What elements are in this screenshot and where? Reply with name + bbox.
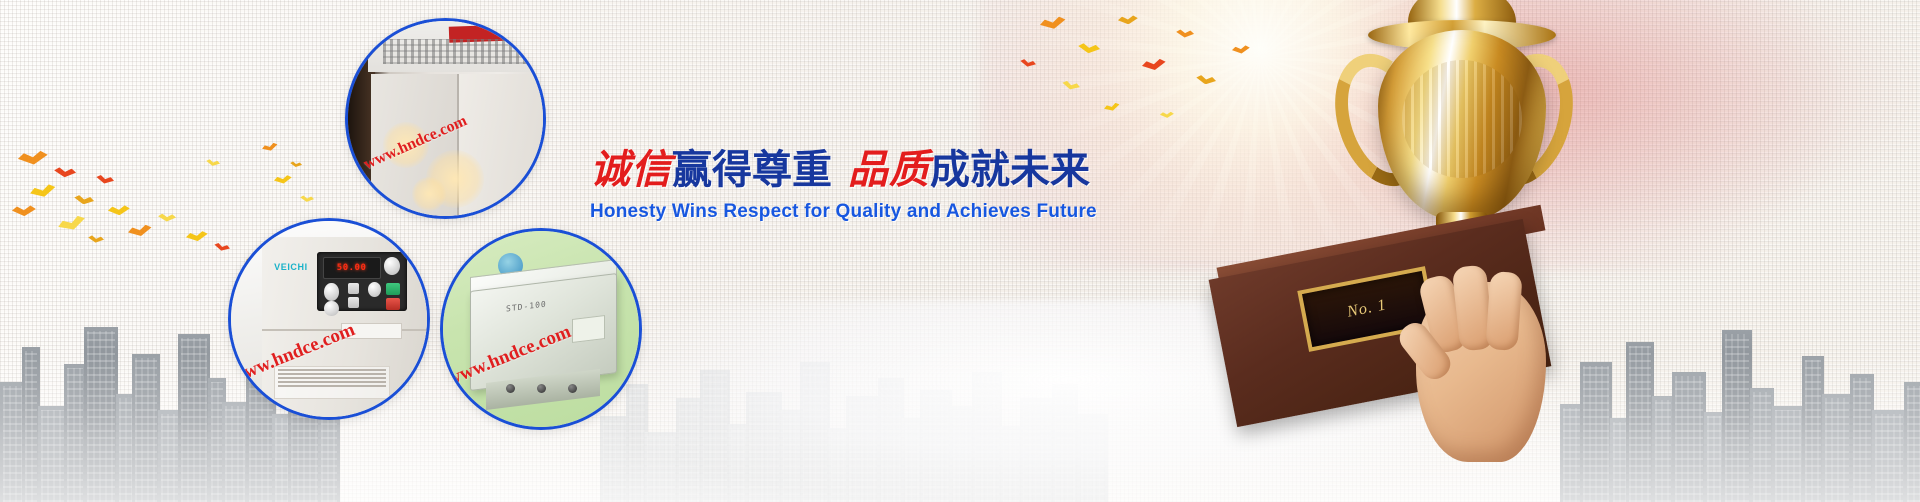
slogan-chinese: 诚信赢得尊重品质成就未来 [590, 150, 1060, 191]
inverter-jog-knob[interactable] [384, 257, 400, 275]
product-circle-inverter[interactable]: VEICHI 50.00 www.hndce.com [228, 218, 430, 420]
inverter-menu-knob[interactable] [324, 283, 338, 301]
cabinet-vent-grille [383, 39, 539, 64]
inverter-spec-sticker [341, 323, 402, 339]
inverter-up-button[interactable] [348, 283, 359, 294]
product-circle-device[interactable]: STD-100 www.hndce.com [440, 228, 642, 430]
bird-icon [1160, 112, 1174, 119]
bird-icon [12, 205, 37, 217]
inverter-display-value: 50.00 [337, 263, 367, 273]
device-nameplate [572, 315, 605, 343]
inverter-stop-knob[interactable] [368, 282, 382, 297]
inverter-lcd-display: 50.00 [323, 257, 381, 279]
slogan-cn-part2-blue: 成就未来 [930, 147, 1090, 193]
trophy-plaque-text: No. 1 [1346, 296, 1388, 321]
inverter-brand-label: VEICHI [274, 262, 308, 272]
trophy-bowl [1378, 30, 1546, 220]
slogan-block: 诚信赢得尊重品质成就未来 Honesty Wins Respect for Qu… [590, 150, 1060, 223]
inverter-run-button[interactable] [386, 283, 400, 295]
inverter-down-button[interactable] [348, 297, 359, 308]
inverter-shift-knob[interactable] [324, 301, 338, 316]
device-terminal-2 [537, 384, 546, 393]
inverter-keypad-panel: 50.00 [317, 252, 407, 311]
inverter-warning-sticker [274, 366, 390, 399]
slogan-cn-part1-blue: 赢得尊重 [672, 147, 832, 193]
bird-icon [158, 213, 176, 222]
trophy-group: No. 1 [1230, 0, 1700, 460]
product-circle-cabinet[interactable]: www.hndce.com [345, 18, 546, 219]
slogan-cn-part1-red: 诚信 [590, 147, 672, 193]
device-terminal-1 [506, 384, 515, 393]
inverter-stop-button[interactable] [386, 298, 400, 310]
slogan-cn-part2-red: 品质 [848, 147, 930, 193]
promo-banner: www.hndce.com VEICHI 50.00 www.hndce.com [0, 0, 1920, 502]
finger-3 [1485, 271, 1522, 351]
slogan-english: Honesty Wins Respect for Quality and Ach… [590, 201, 1060, 223]
